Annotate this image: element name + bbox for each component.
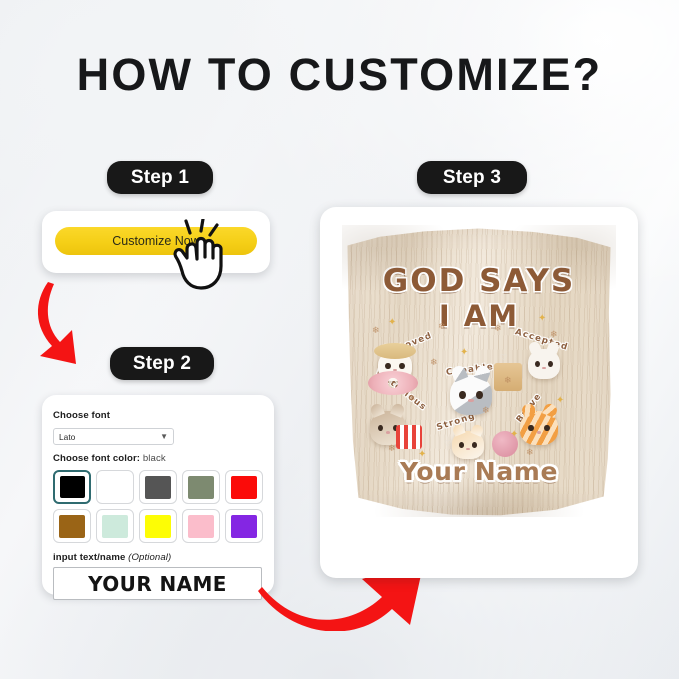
color-swatch-grid: [53, 470, 263, 543]
cat-illustration: [452, 431, 484, 459]
step-2-card: Choose font Lato ▼ Choose font color: bl…: [42, 395, 274, 595]
input-text-name-label: input text/name (Optional): [53, 552, 263, 563]
paw-print-icon: ❄: [388, 443, 396, 454]
blanket-headline-line2: I AM: [342, 299, 616, 333]
blanket-preview: GOD SAYS I AM Loved Accepted Capable Vic…: [342, 225, 616, 517]
color-swatch-mint[interactable]: [96, 509, 134, 543]
paw-print-icon: ❄: [482, 405, 490, 416]
color-swatch-black[interactable]: [53, 470, 91, 504]
font-color-value: black: [143, 453, 166, 464]
swatch-chip: [231, 476, 257, 499]
straw-hat-prop: [374, 343, 416, 359]
heart-icon: ♡: [444, 439, 451, 448]
star-icon: ✦: [510, 429, 518, 440]
star-icon: ✦: [556, 395, 564, 406]
choose-font-color-label: Choose font color: black: [53, 453, 263, 464]
swatch-chip: [188, 476, 214, 499]
color-swatch-white[interactable]: [96, 470, 134, 504]
swatch-chip: [145, 476, 171, 499]
swatch-chip: [145, 515, 171, 538]
popcorn-bucket-prop: [396, 425, 422, 449]
name-text-input[interactable]: YOUR NAME: [53, 567, 262, 600]
swatch-chip: [102, 476, 128, 499]
color-swatch-brown[interactable]: [53, 509, 91, 543]
heart-icon: ♡: [424, 335, 431, 344]
page-title: HOW TO CUSTOMIZE?: [0, 49, 679, 101]
step-3-pill: Step 3: [417, 161, 527, 194]
swatch-chip: [188, 515, 214, 538]
star-icon: ✦: [538, 313, 546, 324]
arrow-step1-to-step2: [30, 282, 130, 374]
swatch-chip: [102, 515, 128, 538]
paw-print-icon: ❄: [550, 329, 558, 340]
step-1-pill: Step 1: [107, 161, 213, 194]
cat-illustration: [520, 411, 558, 445]
blanket-personalized-name: Your Name: [342, 457, 616, 486]
paw-print-icon: ❄: [494, 323, 502, 334]
paw-print-icon: ❄: [408, 393, 416, 404]
swatch-chip: [60, 476, 85, 498]
color-swatch-dark-gray[interactable]: [139, 470, 177, 504]
color-swatch-pink[interactable]: [182, 509, 220, 543]
font-select[interactable]: Lato ▼: [53, 428, 174, 445]
star-icon: ✦: [460, 347, 468, 358]
page-stage: HOW TO CUSTOMIZE? Step 1 Step 2 Step 3 C…: [0, 0, 679, 679]
paw-print-icon: ❄: [372, 325, 380, 336]
blanket-headline-line1: GOD SAYS: [342, 263, 616, 299]
font-color-label-text: Choose font color:: [53, 453, 140, 464]
input-label-text: input text/name: [53, 552, 125, 563]
choose-font-label: Choose font: [53, 410, 110, 421]
pointing-hand-cursor-icon: [166, 219, 244, 291]
font-select-value: Lato: [59, 432, 75, 442]
color-swatch-sage-green[interactable]: [182, 470, 220, 504]
color-swatch-red[interactable]: [225, 470, 263, 504]
paw-print-icon: ❄: [438, 321, 446, 332]
swatch-chip: [231, 515, 257, 538]
donut-prop: [368, 371, 418, 395]
cat-illustration: [528, 349, 560, 379]
input-label-optional: (Optional): [128, 552, 171, 563]
color-swatch-yellow[interactable]: [139, 509, 177, 543]
star-icon: ✦: [388, 317, 396, 328]
chevron-down-icon: ▼: [160, 433, 168, 441]
step-3-card: GOD SAYS I AM Loved Accepted Capable Vic…: [320, 207, 638, 578]
name-input-value: YOUR NAME: [88, 572, 227, 596]
swatch-chip: [59, 515, 85, 538]
heart-icon: ♡: [500, 353, 507, 362]
paw-print-icon: ❄: [504, 375, 512, 386]
paw-print-icon: ❄: [430, 357, 438, 368]
